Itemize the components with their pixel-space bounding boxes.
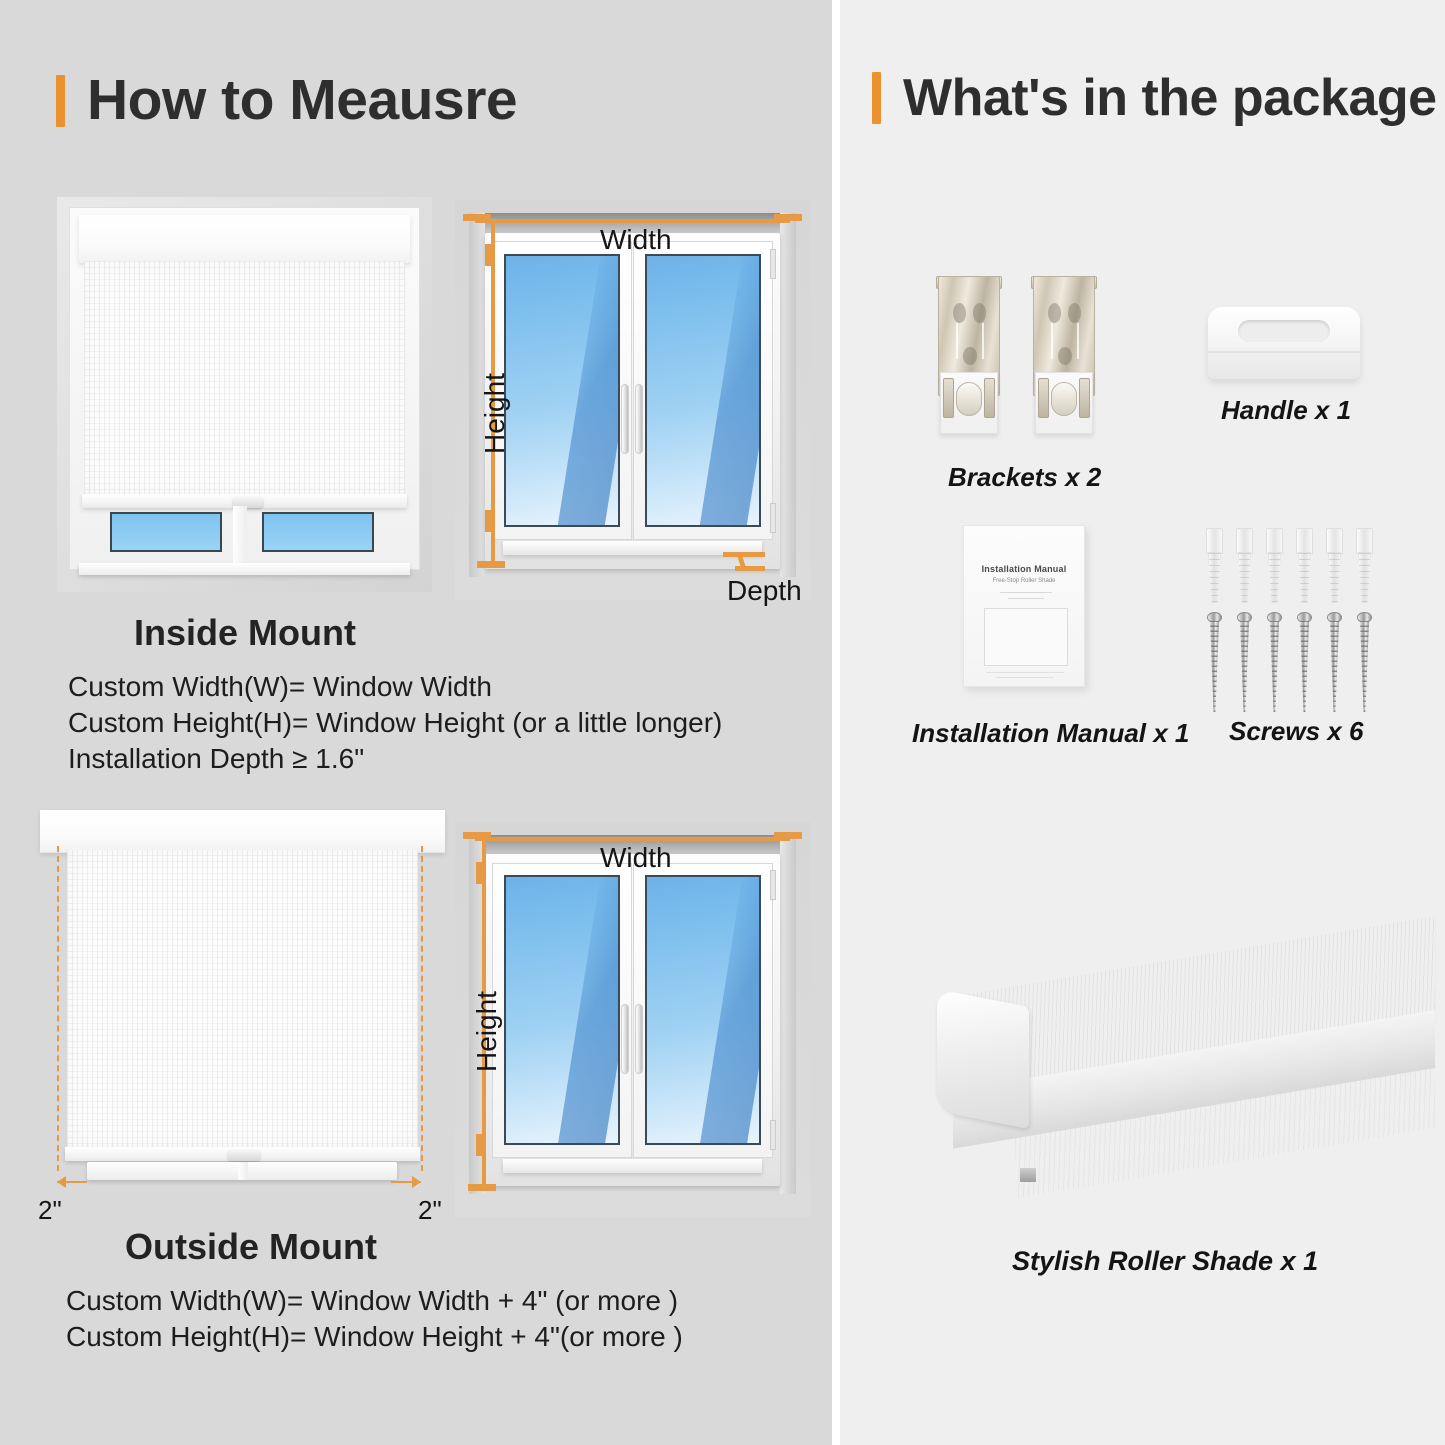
bracket-1-tab-right: [984, 378, 995, 418]
screw-4-shaft: [1300, 621, 1309, 712]
label-height: Height: [479, 373, 511, 454]
package-item-installation-manual: Installation Manual Free-Stop Roller Sha…: [963, 525, 1085, 687]
package-label-brackets: Brackets x 2: [948, 462, 1101, 493]
width-measure-line: [475, 219, 790, 223]
outside-mount-line-2: Custom Height(H)= Window Height + 4"(or …: [66, 1321, 683, 1353]
anchor-5-head: [1326, 528, 1343, 554]
screw-5-shaft: [1330, 621, 1339, 712]
outside-shade-pull-handle: [228, 1150, 260, 1161]
hinge2-top-right: [770, 870, 776, 900]
hinge-top-right: [770, 249, 776, 279]
screw-5: [1327, 612, 1342, 712]
overhang-guide-right: [421, 846, 423, 1171]
bracket-2-cap: [1051, 382, 1077, 416]
anchor-6-head: [1356, 528, 1373, 554]
bracket-1-tab-left: [943, 378, 954, 418]
diagram-window-handles: [621, 384, 643, 454]
wall-anchor-6: [1356, 528, 1373, 603]
anchor-3-head: [1266, 528, 1283, 554]
screw-3-shaft: [1270, 621, 1279, 712]
screw-1: [1207, 612, 1222, 712]
anchor-4-body: [1298, 552, 1311, 603]
inside-mount-line-3: Installation Depth ≥ 1.6": [68, 743, 364, 775]
bracket-1-slot-b: [973, 303, 986, 323]
accent-bar-right: [872, 72, 881, 124]
screw-6-shaft: [1360, 621, 1369, 712]
roller-shade-end-chip: [1020, 1168, 1036, 1182]
anchor-5-body: [1328, 552, 1341, 603]
height2-tick-bottom: [476, 1134, 483, 1156]
outside-mount-line-1: Custom Width(W)= Window Width + 4" (or m…: [66, 1285, 678, 1317]
anchor-2-head: [1236, 528, 1253, 554]
inside-mount-line-2: Custom Height(H)= Window Height (or a li…: [68, 707, 722, 739]
diagram-window-frame: [485, 233, 780, 569]
diagram2-window-handles: [621, 1004, 643, 1074]
roller-shade-end-cap: [937, 989, 1029, 1129]
heading-right-text: What's in the package: [903, 72, 1437, 124]
page-title-whats-in-package: What's in the package: [872, 72, 1437, 124]
height2-cap-bottom: [468, 1184, 496, 1191]
bracket-1-slot-c: [963, 347, 977, 365]
shade-headrail: [79, 215, 410, 264]
overhang-label-right: 2": [418, 1195, 442, 1226]
package-label-roller-shade: Stylish Roller Shade x 1: [1012, 1246, 1318, 1277]
bracket-1-rib-b: [982, 323, 984, 359]
screw-4: [1297, 612, 1312, 712]
outside-shade-headrail: [40, 810, 445, 853]
shade-fabric: [84, 261, 405, 496]
diagram2-glass-right: [645, 875, 761, 1145]
infographic-page: How to Meausre What's in the package: [0, 0, 1445, 1445]
package-label-screws: Screws x 6: [1229, 716, 1363, 747]
handle2-bar-right: [635, 1004, 643, 1074]
anchor-1-body: [1208, 552, 1221, 603]
bracket-2: [1033, 276, 1095, 441]
panel-divider: [832, 0, 840, 1445]
screw-3: [1267, 612, 1282, 712]
wall-anchor-4: [1296, 528, 1313, 603]
height-cap-bottom: [477, 561, 505, 568]
diagram-glass-left: [504, 254, 620, 527]
anchor-2-body: [1238, 552, 1251, 603]
overhang-arrowhead-left: [57, 1176, 66, 1188]
screw-2-shaft: [1240, 621, 1249, 712]
accent-bar-left: [56, 75, 65, 127]
anchor-6-body: [1358, 552, 1371, 603]
bracket-2-rib-b: [1077, 323, 1079, 359]
depth-cap: [723, 552, 765, 557]
window-mullion: [233, 506, 247, 568]
diagram2-sill: [503, 1159, 762, 1173]
overhang-label-left: 2": [38, 1195, 62, 1226]
screw-6: [1357, 612, 1372, 712]
package-item-roller-shade: [905, 880, 1435, 1210]
inside-mount-measure-diagram: Width Height Depth: [455, 200, 810, 600]
handle-bar-left: [621, 384, 629, 454]
handle-bar-right: [635, 384, 643, 454]
outside-mount-measure-diagram: Width Height: [455, 822, 810, 1217]
height-tick-bottom: [485, 510, 492, 532]
bracket-2-slot-b: [1068, 303, 1081, 323]
package-item-handle: [1208, 307, 1360, 379]
outside-shade-fabric: [67, 850, 418, 1150]
page-title-how-to-measure: How to Meausre: [56, 72, 517, 129]
diagram2-sash-left: [492, 863, 632, 1158]
inside-mount-line-1: Custom Width(W)= Window Width: [68, 671, 492, 703]
anchor-1-head: [1206, 528, 1223, 554]
heading-left-text: How to Meausre: [87, 72, 517, 129]
manual-cover-illustration: [984, 608, 1068, 666]
handle2-bar-left: [621, 1004, 629, 1074]
label-width: Width: [600, 224, 672, 256]
bracket-1-rib-a: [956, 323, 958, 359]
label2-height: Height: [471, 991, 503, 1072]
overhang-guide-left: [57, 846, 59, 1171]
inside-mount-shade-illustration: [57, 197, 432, 592]
outside-window-mullion: [238, 1162, 248, 1180]
manual-cover-title: Installation Manual: [964, 564, 1084, 574]
bracket-2-rib-a: [1051, 323, 1053, 359]
package-label-handle: Handle x 1: [1221, 395, 1351, 426]
diagram-sash-right: [633, 241, 773, 540]
diagram-glass-right: [645, 254, 761, 527]
package-label-installation-manual: Installation Manual x 1: [912, 718, 1189, 749]
package-item-brackets: [938, 276, 1118, 446]
manual-rule-2: [1008, 598, 1044, 599]
window-glass-right: [262, 512, 374, 552]
window-glass-left: [110, 512, 222, 552]
inside-mount-title: Inside Mount: [134, 612, 356, 654]
wall-anchor-1: [1206, 528, 1223, 603]
diagram2-reveal-right: [780, 835, 796, 1194]
outside-mount-shade-illustration: [35, 810, 450, 1200]
anchor-3-body: [1268, 552, 1281, 603]
screw-1-shaft: [1210, 621, 1219, 712]
diagram-sash-left: [492, 241, 632, 540]
height2-tick-top: [476, 862, 483, 884]
width2-measure-line: [475, 837, 790, 841]
wall-anchor-2: [1236, 528, 1253, 603]
manual-rule-1: [1000, 592, 1052, 593]
screw-2: [1237, 612, 1252, 712]
diagram2-glass-left: [504, 875, 620, 1145]
anchor-4-head: [1296, 528, 1313, 554]
bracket-1-cap: [956, 382, 982, 416]
bracket-1: [938, 276, 1000, 441]
window-sill: [79, 563, 410, 575]
bracket-2-tab-left: [1038, 378, 1049, 418]
manual-foot-rule-2: [996, 677, 1054, 678]
label-depth: Depth: [727, 575, 802, 607]
outside-mount-title: Outside Mount: [125, 1226, 377, 1268]
bracket-2-slot-a: [1048, 303, 1061, 323]
wall-anchor-5: [1326, 528, 1343, 603]
manual-foot-rule-1: [986, 672, 1064, 673]
hinge-bottom-right: [770, 503, 776, 533]
manual-cover-subtitle: Free-Stop Roller Shade: [964, 578, 1084, 584]
height-tick-top: [485, 244, 492, 266]
diagram-reveal-right: [780, 213, 796, 577]
bracket-2-tab-right: [1079, 378, 1090, 418]
diagram2-sash-right: [633, 863, 773, 1158]
depth-cap-bottom: [735, 566, 765, 571]
wall-anchor-3: [1266, 528, 1283, 603]
diagram2-window-frame: [485, 854, 780, 1186]
hinge2-bottom-right: [770, 1120, 776, 1150]
package-item-screws: [1206, 528, 1386, 708]
bracket-1-slot-a: [953, 303, 966, 323]
label2-width: Width: [600, 842, 672, 874]
overhang-arrowhead-right: [412, 1176, 421, 1188]
bracket-2-slot-c: [1058, 347, 1072, 365]
